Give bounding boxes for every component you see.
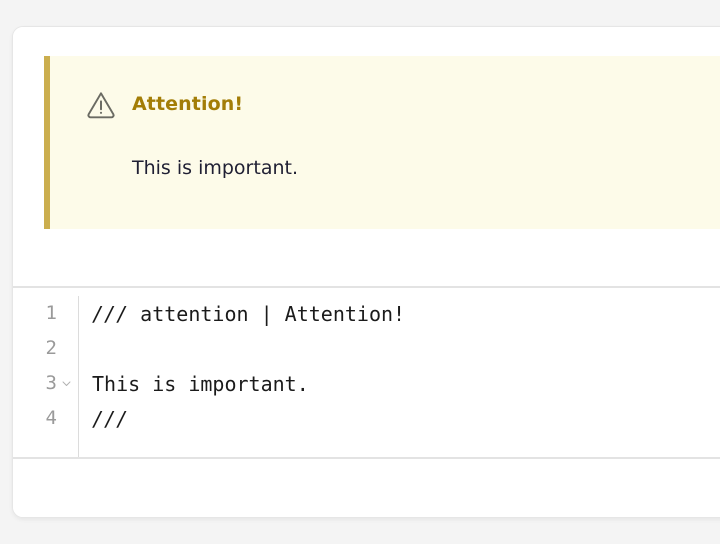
code-token: /// <box>92 304 128 324</box>
code-line[interactable] <box>92 331 720 366</box>
code-editor[interactable]: 1234 /// attention | Attention!This is i… <box>13 288 720 457</box>
editor-gutter[interactable]: 1234 <box>13 296 79 457</box>
code-line[interactable]: /// attention | Attention! <box>92 296 720 331</box>
line-number: 2 <box>46 339 57 358</box>
code-line[interactable]: /// <box>92 401 720 436</box>
card-footer-strip <box>13 459 720 517</box>
rendered-preview-pane: Attention! This is important. <box>13 27 720 287</box>
gutter-row: 1 <box>13 296 78 331</box>
gutter-row: 4 <box>13 401 78 436</box>
chevron-down-icon[interactable] <box>59 378 74 389</box>
code-token: attention | Attention! <box>128 304 405 324</box>
gutter-row: 3 <box>13 366 78 401</box>
code-token: /// <box>92 409 128 429</box>
code-line[interactable]: This is important. <box>92 366 720 401</box>
gutter-row: 2 <box>13 331 78 366</box>
editor-code-area[interactable]: /// attention | Attention!This is import… <box>92 296 720 457</box>
line-number: 4 <box>46 409 57 428</box>
warning-triangle-icon <box>86 89 116 119</box>
screenshot-canvas: Attention! This is important. 1234 /// a… <box>0 0 720 544</box>
admonition-title: Attention! <box>132 95 243 114</box>
admonition-title-row: Attention! <box>86 89 243 119</box>
preview-card: Attention! This is important. 1234 /// a… <box>12 26 720 518</box>
line-number: 1 <box>46 304 57 323</box>
attention-admonition: Attention! This is important. <box>44 56 720 229</box>
code-token: This is important. <box>92 374 309 394</box>
line-number: 3 <box>46 374 57 393</box>
admonition-body-text: This is important. <box>132 156 298 181</box>
